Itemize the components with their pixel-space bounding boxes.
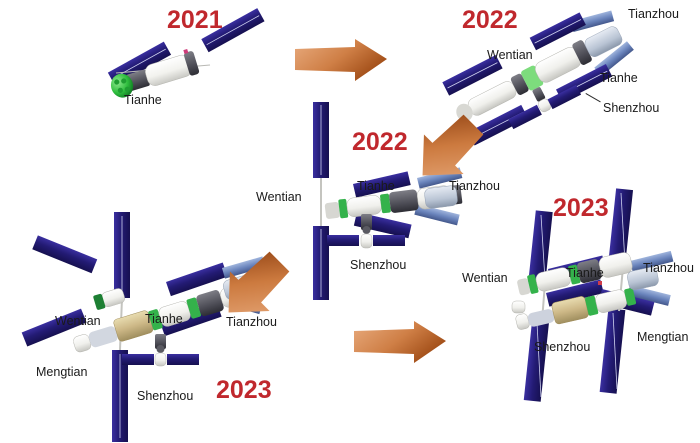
arrow-2021-to-2022: [293, 38, 389, 84]
module-label-shenzhou-2022-middle: Shenzhou: [350, 259, 406, 272]
solar-panel: [600, 308, 626, 393]
module-label-shenzhou-2023-left: Shenzhou: [137, 390, 193, 403]
module-label-tianhe-2023-left: Tianhe: [145, 313, 183, 326]
module-label-wentian-2022-middle: Wentian: [256, 191, 302, 204]
solar-panel: [313, 226, 329, 300]
module-label-wentian-2023-left: Wentian: [55, 315, 101, 328]
module-label-tianzhou-2022-top: Tianzhou: [628, 8, 679, 21]
module-label-wentian-2023-right: Wentian: [462, 272, 508, 285]
module-label-mengtian-2023-left: Mengtian: [36, 366, 87, 379]
module-label-tianzhou-2023-right: Tianzhou: [643, 262, 694, 275]
module-label-shenzhou-2022-top: Shenzhou: [603, 102, 659, 115]
solar-panel: [313, 102, 329, 178]
solar-panel: [114, 212, 130, 298]
arrow-2022middle-to-2023left: [214, 247, 294, 327]
module-label-tianhe-2022-middle: Tianhe: [357, 180, 395, 193]
module-label-tianhe-2023-right: Tianhe: [566, 267, 604, 280]
module-label-shenzhou-2023-right: Shenzhou: [534, 341, 590, 354]
station-diagram-2023-right: [470, 195, 685, 443]
module-label-tianhe-2022-top: Tianhe: [600, 72, 638, 85]
arrow-2022top-to-2022middle: [408, 110, 488, 190]
figure-canvas: 2021 2022 2022 2023 2023: [0, 0, 700, 443]
solar-panel: [32, 235, 97, 273]
module-label-mengtian-2023-right: Mengtian: [637, 331, 688, 344]
module-label-wentian-2022-top: Wentian: [487, 49, 533, 62]
solar-panel: [524, 318, 549, 401]
module-label-tianhe-2021: Tianhe: [124, 94, 162, 107]
arrow-2022middle-to-2023right: [352, 320, 448, 366]
